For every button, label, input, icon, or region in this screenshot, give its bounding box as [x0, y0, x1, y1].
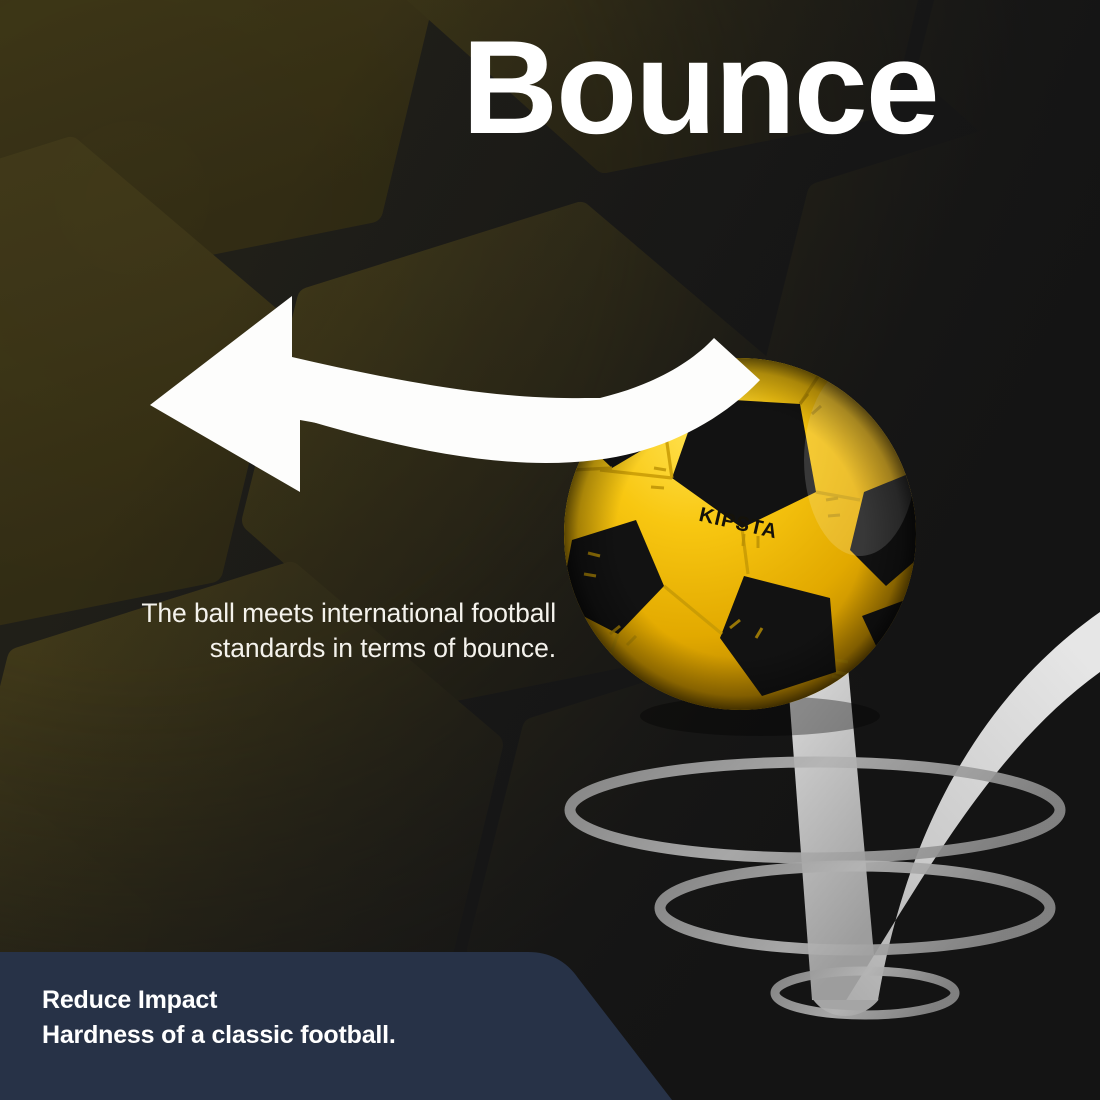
page-title: Bounce: [462, 22, 1082, 162]
banner-line-2: Hardness of a classic football.: [42, 1018, 396, 1053]
banner-line-1: Reduce Impact: [42, 983, 396, 1018]
bounce-feature-card: KIPSTA Bounce The ball meets internation…: [0, 0, 1100, 1100]
feature-description-line1: The ball meets international football: [16, 596, 556, 631]
feature-description: The ball meets international football st…: [16, 596, 556, 666]
feature-description-line2: standards in terms of bounce.: [16, 631, 556, 666]
bottom-banner: [0, 0, 1100, 1100]
banner-text-block: Reduce Impact Hardness of a classic foot…: [42, 983, 396, 1052]
